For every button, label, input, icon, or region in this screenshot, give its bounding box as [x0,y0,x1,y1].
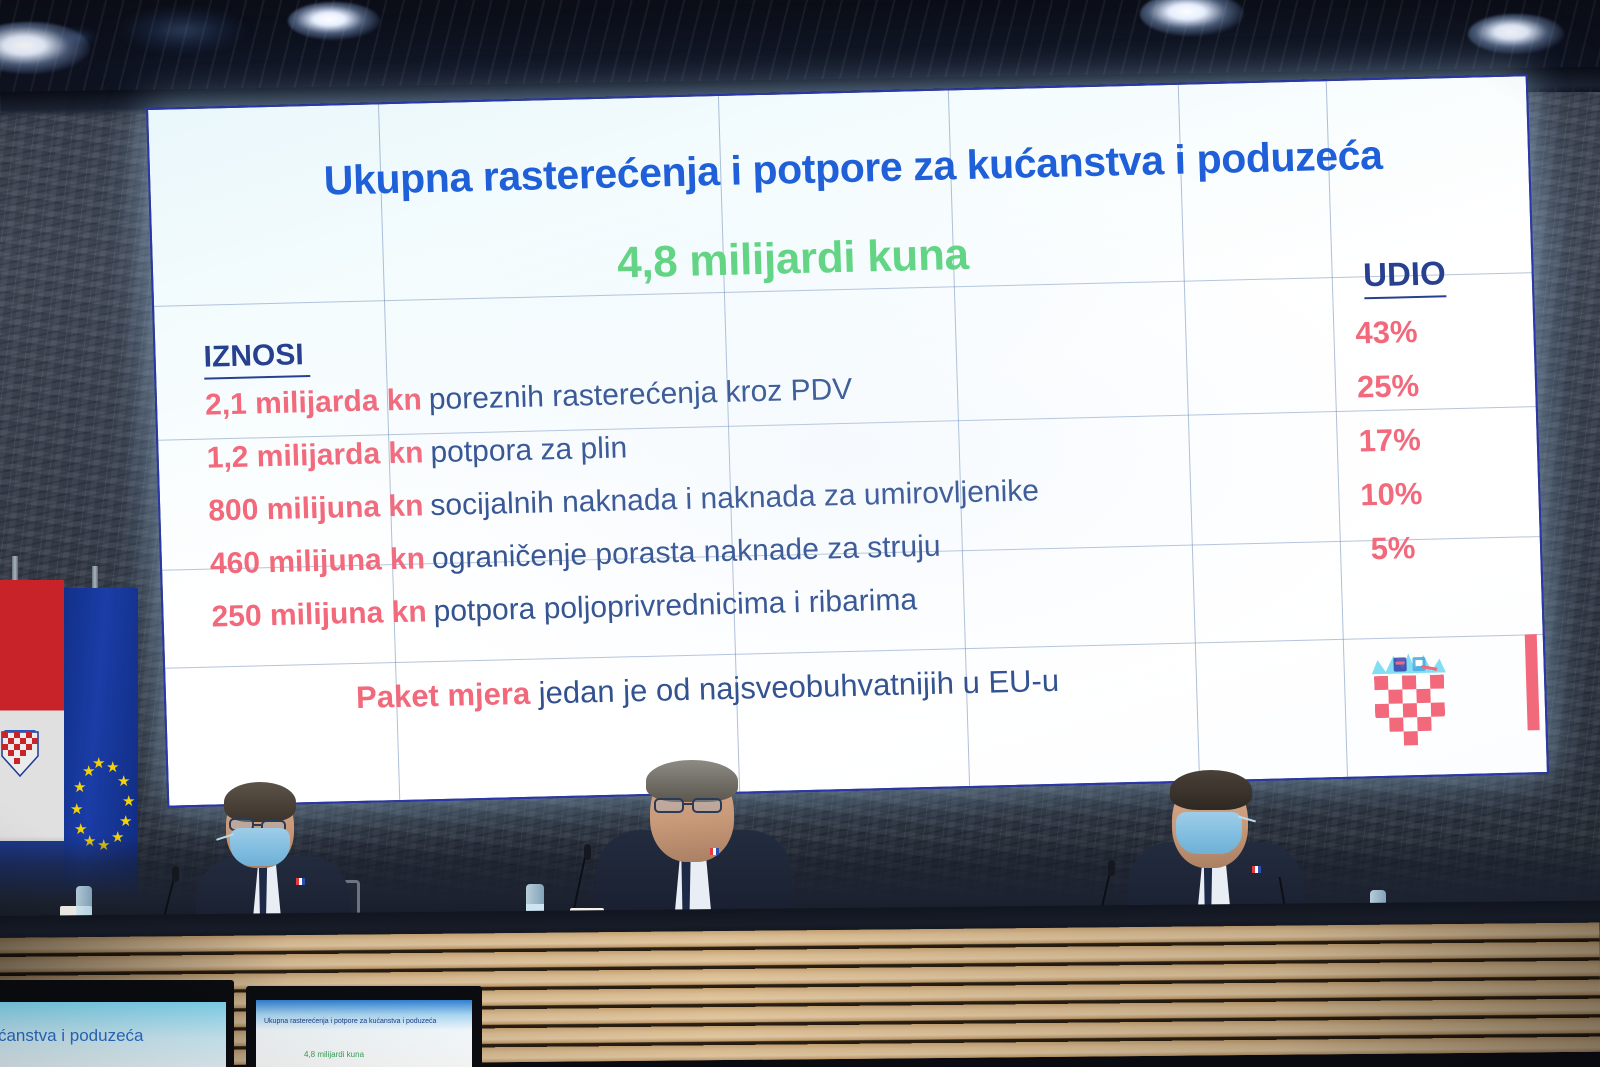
monitor-right-text: Ukupna rasterećenja i potpore za kućanst… [264,1018,436,1025]
spot-light [1468,14,1564,54]
glasses-bridge [254,824,261,826]
lapel-pin [296,878,305,885]
eu-star: ★ [117,774,130,789]
eu-star: ★ [119,814,132,829]
column-header-share: UDIO [1363,254,1447,299]
face-mask [1176,812,1242,854]
slide-headline-amount: 4,8 milijardi kuna [482,227,1103,292]
hair [224,782,296,822]
video-wall-slide: Ukupna rasterećenja i potpore za kućanst… [146,74,1549,807]
face-mask [230,828,290,866]
eu-star: ★ [70,802,83,817]
row-share: 10% [1316,466,1468,524]
accent-bar [1525,634,1540,730]
row-description: potpora za plin [430,431,628,469]
ceiling-dome-light [58,28,98,46]
glasses-icon [692,798,722,813]
monitor-left-screen: kućanstva i poduzeća [0,1002,226,1067]
row-amount: 250 milijuna kn [211,595,427,633]
eu-star: ★ [73,780,86,795]
ceiling-dome-light [118,6,248,54]
eu-star: ★ [82,764,95,779]
footer-highlight: Paket mjera [356,676,531,715]
amounts-list: 2,1 milijarda knporeznih rasterećenja kr… [205,361,1353,654]
eu-star: ★ [122,794,135,809]
hair [1170,770,1252,810]
row-share: 25% [1312,358,1464,416]
microphone-head [172,866,179,882]
row-amount: 460 milijuna kn [209,542,425,580]
slide-title: Ukupna rasterećenja i potpore za kućanst… [228,129,1479,207]
row-amount: 1,2 milijarda kn [206,436,424,474]
crown-icon [1369,650,1448,678]
row-share: 43% [1311,304,1463,362]
hair [646,760,738,802]
monitor-left: kućanstva i poduzeća [0,980,234,1067]
glasses-bridge [684,803,692,805]
glasses-icon [654,798,684,813]
column-header-amounts: IZNOSI [203,338,310,380]
row-description: poreznih rasterećenja kroz PDV [428,373,852,416]
eu-star: ★ [74,822,87,837]
monitor-right-subtext: 4,8 milijardi kuna [304,1050,364,1059]
croatian-coat-of-arms-icon [1365,650,1454,756]
lapel-pin [1252,866,1261,873]
row-share: 17% [1314,412,1466,470]
screenshot-stage: Ukupna rasterećenja i potpore za kućanst… [0,0,1600,1067]
row-amount: 800 milijuna kn [208,489,424,527]
slide-footer: Paket mjera jedan je od najsveobuhvatnij… [356,654,1417,716]
share-column: 43% 25% 17% 10% 5% [1311,304,1469,578]
footer-rest: jedan je od najsveobuhvatnijih u EU-u [530,663,1060,711]
microphone-head [584,844,591,860]
monitor-right: Ukupna rasterećenja i potpore za kućanst… [246,986,482,1067]
podium-shading [0,923,1600,1067]
croatian-coat-of-arms-icon [0,730,40,778]
checkerboard-shield [1374,674,1446,754]
monitor-left-text: kućanstva i poduzeća [0,1026,144,1046]
row-share: 5% [1317,520,1469,578]
spot-light [288,2,380,40]
lapel-pin [710,848,719,855]
monitor-right-screen: Ukupna rasterećenja i potpore za kućanst… [256,1000,472,1067]
microphone-head [1108,860,1115,876]
row-amount: 2,1 milijarda kn [205,383,423,421]
